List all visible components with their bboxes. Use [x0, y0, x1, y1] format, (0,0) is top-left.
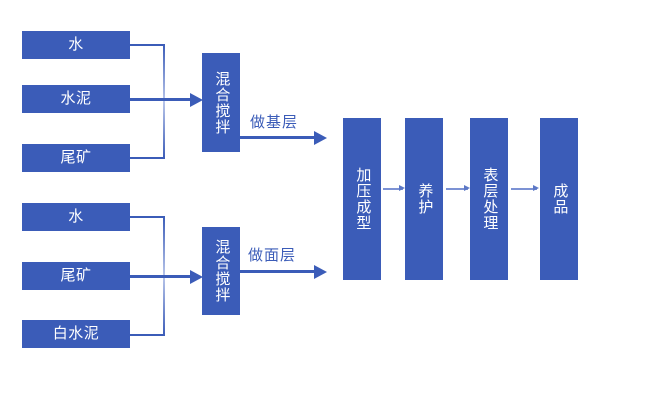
process-box-surface-treatment[interactable]: 表层处理	[470, 118, 508, 280]
bracket-line-face-white-cement	[130, 334, 165, 336]
mixer-box-label: 混合搅拌	[212, 71, 231, 135]
mixer-box-face[interactable]: 混合搅拌	[202, 227, 240, 315]
process-box-label: 加压成型	[353, 167, 372, 231]
input-box-label: 水泥	[60, 90, 91, 107]
process-box-press-form[interactable]: 加压成型	[343, 118, 381, 280]
input-box-base-tailings[interactable]: 尾矿	[22, 144, 130, 172]
arrow-head-surface-to-product	[533, 185, 539, 191]
input-box-face-tailings[interactable]: 尾矿	[22, 262, 130, 290]
process-box-label: 表层处理	[480, 167, 499, 231]
bracket-line-base-water	[130, 44, 165, 46]
input-box-face-white-cement[interactable]: 白水泥	[22, 320, 130, 348]
flowchart-canvas: 水 水泥 尾矿 混合搅拌 做基层 水 尾矿 白水泥 混合搅拌 做面层	[0, 0, 650, 400]
bracket-line-face-water	[130, 216, 165, 218]
input-box-base-water[interactable]: 水	[22, 31, 130, 59]
arrow-shaft-face-to-mixer	[130, 275, 192, 278]
input-box-base-cement[interactable]: 水泥	[22, 85, 130, 113]
process-box-label: 成品	[550, 183, 569, 215]
arrow-shaft-face-to-press	[240, 270, 316, 273]
bracket-line-base-tailings	[130, 157, 165, 159]
input-box-label: 白水泥	[53, 325, 100, 342]
process-box-label: 养护	[415, 183, 434, 215]
arrow-head-face-to-press	[314, 265, 327, 279]
input-box-face-water[interactable]: 水	[22, 203, 130, 231]
input-box-label: 水	[68, 208, 84, 225]
mixer-box-label: 混合搅拌	[212, 239, 231, 303]
arrow-shaft-base-to-mixer	[130, 98, 192, 101]
arrow-shaft-base-to-press	[240, 136, 316, 139]
process-box-finished-product[interactable]: 成品	[540, 118, 578, 280]
bracket-spine-base	[163, 44, 165, 159]
input-box-label: 水	[68, 36, 84, 53]
input-box-label: 尾矿	[60, 267, 91, 284]
process-box-curing[interactable]: 养护	[405, 118, 443, 280]
arrow-head-base-to-press	[314, 131, 327, 145]
edge-label-face-layer: 做面层	[248, 244, 296, 265]
input-box-label: 尾矿	[60, 149, 91, 166]
mixer-box-base[interactable]: 混合搅拌	[202, 53, 240, 152]
edge-label-base-layer: 做基层	[250, 111, 298, 132]
